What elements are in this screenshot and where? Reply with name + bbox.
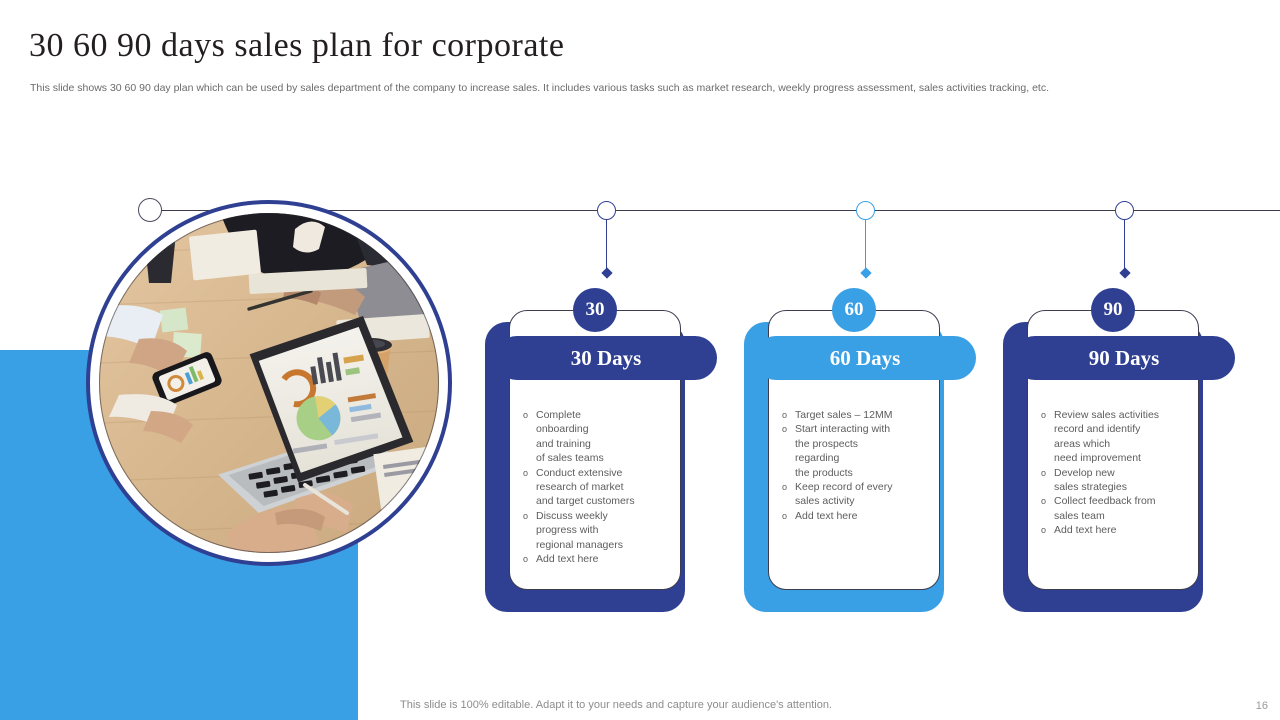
bullet-list-30: oComplete onboarding and training of sal… (523, 408, 685, 566)
bullet-text: Start interacting with the prospects reg… (795, 422, 944, 480)
bullet-text: Conduct extensive research of market and… (536, 466, 685, 509)
card-heading-90: 90 Days (1013, 336, 1235, 380)
badge-90: 90 (1091, 288, 1135, 332)
bullet-text: Add text here (1054, 523, 1203, 537)
bullet-text: Add text here (536, 552, 685, 566)
list-item: oAdd text here (782, 509, 944, 523)
list-item: oStart interacting with the prospects re… (782, 422, 944, 480)
timeline-diamond-30 (601, 267, 612, 278)
timeline-drop-90 (1124, 219, 1125, 271)
page-number: 16 (1256, 700, 1268, 712)
list-item: oKeep record of every sales activity (782, 480, 944, 509)
hero-photo-illustration (99, 213, 439, 553)
bullet-marker-icon: o (1041, 523, 1054, 537)
list-item: oConduct extensive research of market an… (523, 466, 685, 509)
bullet-marker-icon: o (523, 552, 536, 566)
timeline-node-30 (597, 201, 616, 220)
bullet-text: Review sales activities record and ident… (1054, 408, 1203, 466)
bullet-text: Target sales – 12MM (795, 408, 944, 422)
list-item: oReview sales activities record and iden… (1041, 408, 1203, 466)
badge-60: 60 (832, 288, 876, 332)
bullet-marker-icon: o (1041, 466, 1054, 480)
hero-photo (99, 213, 439, 553)
timeline-diamond-60 (860, 267, 871, 278)
hero-photo-frame (86, 200, 452, 566)
page-title: 30 60 90 days sales plan for corporate (29, 26, 564, 66)
badge-30: 30 (573, 288, 617, 332)
bullet-marker-icon: o (523, 509, 536, 523)
bullet-marker-icon: o (782, 480, 795, 494)
list-item: oDiscuss weekly progress with regional m… (523, 509, 685, 552)
bullet-marker-icon: o (1041, 494, 1054, 508)
timeline-drop-60 (865, 219, 866, 271)
list-item: oComplete onboarding and training of sal… (523, 408, 685, 466)
list-item: oDevelop new sales strategies (1041, 466, 1203, 495)
bullet-text: Keep record of every sales activity (795, 480, 944, 509)
bullet-list-90: oReview sales activities record and iden… (1041, 408, 1203, 538)
bullet-marker-icon: o (1041, 408, 1054, 422)
list-item: oTarget sales – 12MM (782, 408, 944, 422)
timeline-drop-30 (606, 219, 607, 271)
list-item: oAdd text here (523, 552, 685, 566)
timeline-diamond-90 (1119, 267, 1130, 278)
bullet-text: Collect feedback from sales team (1054, 494, 1203, 523)
card-heading-30: 30 Days (495, 336, 717, 380)
timeline-node-photo (138, 198, 162, 222)
bullet-marker-icon: o (782, 408, 795, 422)
bullet-text: Add text here (795, 509, 944, 523)
list-item: oCollect feedback from sales team (1041, 494, 1203, 523)
card-heading-60: 60 Days (754, 336, 976, 380)
timeline-node-60 (856, 201, 875, 220)
bullet-marker-icon: o (782, 509, 795, 523)
bullet-text: Develop new sales strategies (1054, 466, 1203, 495)
bullet-text: Complete onboarding and training of sale… (536, 408, 685, 466)
bullet-list-60: oTarget sales – 12MM oStart interacting … (782, 408, 944, 523)
bullet-marker-icon: o (523, 466, 536, 480)
list-item: oAdd text here (1041, 523, 1203, 537)
bullet-marker-icon: o (523, 408, 536, 422)
timeline-node-90 (1115, 201, 1134, 220)
bullet-text: Discuss weekly progress with regional ma… (536, 509, 685, 552)
editable-note: This slide is 100% editable. Adapt it to… (400, 699, 832, 711)
bullet-marker-icon: o (782, 422, 795, 436)
slide-subtitle: This slide shows 30 60 90 day plan which… (30, 81, 1240, 95)
